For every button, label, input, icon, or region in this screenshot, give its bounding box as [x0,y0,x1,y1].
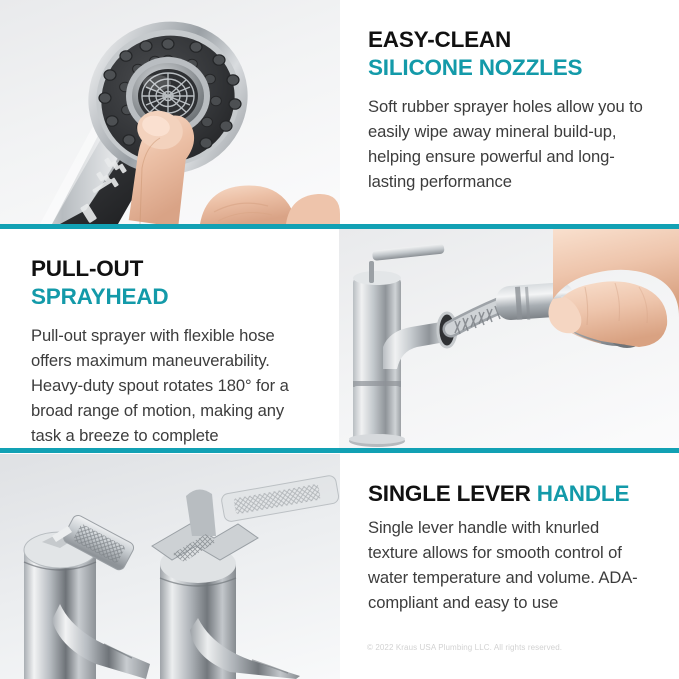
divider-line-2 [0,448,679,453]
sprayhead-nozzle-photo [0,0,340,224]
feature-body-3: Single lever handle with knurled texture… [368,515,653,615]
feature-body-1: Soft rubber sprayer holes allow you to e… [368,94,653,194]
feature-title-3-black: SINGLE LEVER [368,481,531,506]
lever-handle-photo [0,454,340,679]
feature-row-1: EASY-CLEAN SILICONE NOZZLES Soft rubber … [0,0,679,224]
feature-text-panel-1: EASY-CLEAN SILICONE NOZZLES Soft rubber … [340,0,679,224]
pullout-sprayhead-photo [339,229,679,448]
feature-title-3: SINGLE LEVER HANDLE [368,480,653,508]
feature-row-2: PULL-OUT SPRAYHEAD Pull-out sprayer with… [0,229,679,448]
feature-subtitle-1: SILICONE NOZZLES [368,54,653,82]
feature-text-panel-2: PULL-OUT SPRAYHEAD Pull-out sprayer with… [0,229,339,448]
feature-title-3-accent: HANDLE [537,481,630,506]
copyright-notice: © 2022 Kraus USA Plumbing LLC. All right… [367,643,562,652]
feature-subtitle-2: SPRAYHEAD [31,283,313,311]
feature-title-1: EASY-CLEAN [368,26,653,54]
feature-body-2: Pull-out sprayer with flexible hose offe… [31,323,313,448]
feature-row-3: SINGLE LEVER HANDLE Single lever handle … [0,454,679,679]
feature-title-2: PULL-OUT [31,255,313,283]
feature-infographic: EASY-CLEAN SILICONE NOZZLES Soft rubber … [0,0,679,679]
